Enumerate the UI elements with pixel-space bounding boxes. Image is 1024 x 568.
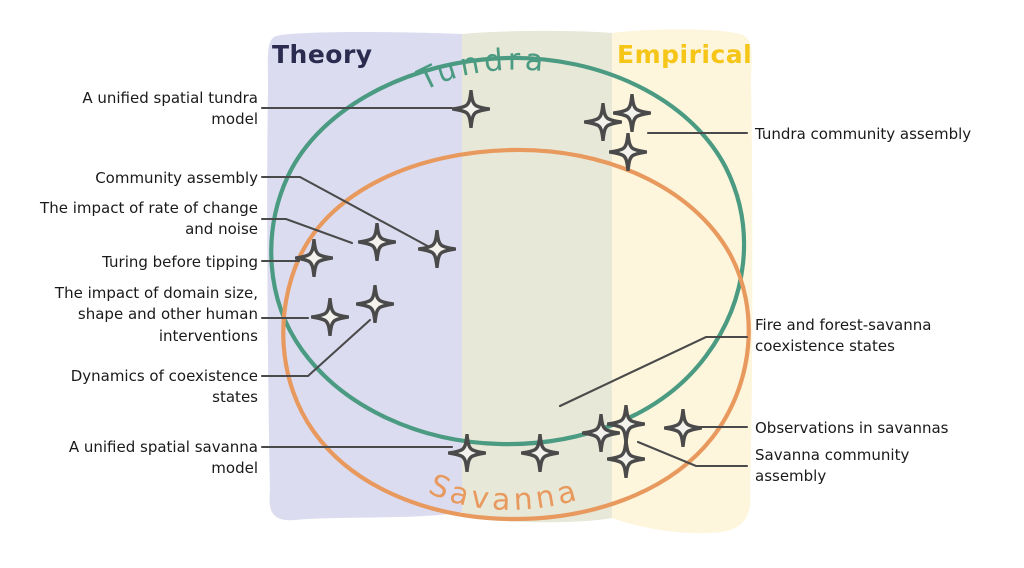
label-impact-domain-size-shape-human-interventions: The impact of domain size, shape and oth… xyxy=(0,283,258,347)
label-turing-before-tipping: Turing before tipping xyxy=(10,252,258,273)
label-dynamics-of-coexistence-states: Dynamics of coexistence states xyxy=(10,366,258,409)
label-unified-spatial-savanna-model: A unified spatial savanna model xyxy=(10,437,258,480)
label-tundra-community-assembly: Tundra community assembly xyxy=(755,124,1021,145)
label-impact-rate-of-change-and-noise: The impact of rate of change and noise xyxy=(0,198,258,241)
label-unified-spatial-tundra-model: A unified spatial tundra model xyxy=(10,88,258,131)
venn-diagram-figure: Tundra Savanna Theory Empirical A unifie… xyxy=(0,0,1024,568)
label-savanna-community-assembly: Savanna community assembly xyxy=(755,445,1021,488)
background-bands xyxy=(267,29,752,533)
column-header-empirical: Empirical xyxy=(617,40,752,69)
label-community-assembly: Community assembly xyxy=(10,168,258,189)
label-observations-in-savannas: Observations in savannas xyxy=(755,418,1021,439)
label-fire-forest-savanna-coexistence-states: Fire and forest-savanna coexistence stat… xyxy=(755,315,1021,358)
column-header-theory: Theory xyxy=(272,40,373,69)
